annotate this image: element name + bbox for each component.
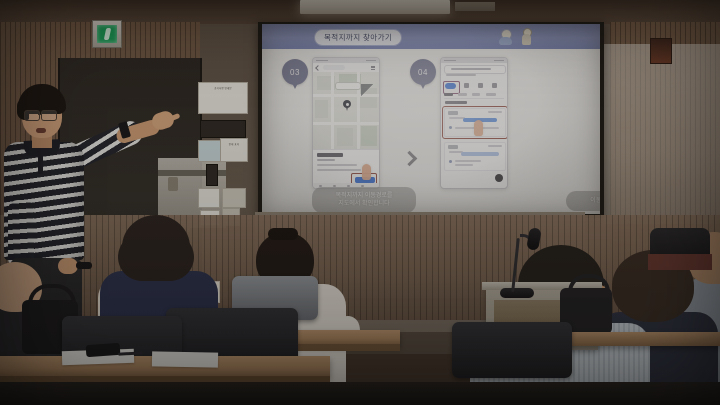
place-detail-line-1 bbox=[317, 164, 357, 166]
step-03-caption-line-1: 목적지까지 이동경로를 bbox=[336, 192, 393, 200]
slide-step-04: 04 bbox=[410, 55, 530, 213]
route-filter-tabs[interactable] bbox=[444, 92, 504, 99]
wall-notice-text: 공지사항 안내문 bbox=[199, 87, 247, 90]
tab-fastest[interactable] bbox=[458, 93, 467, 96]
place-name bbox=[317, 153, 343, 157]
presentation-clicker[interactable] bbox=[76, 262, 92, 269]
map-destination-pin-icon bbox=[343, 100, 351, 111]
search-chip[interactable] bbox=[323, 65, 345, 70]
person-mascot-icon bbox=[498, 29, 513, 45]
route-list-heading bbox=[445, 101, 467, 104]
exit-sign-icon bbox=[97, 25, 117, 43]
menu-icon[interactable] bbox=[371, 66, 375, 70]
right-wall-fixture bbox=[650, 38, 672, 64]
smartphone-on-desk[interactable] bbox=[86, 343, 121, 357]
floor bbox=[0, 382, 720, 405]
route-duration-1 bbox=[488, 111, 502, 113]
place-detail-line-2 bbox=[317, 169, 361, 171]
mode-transit-selected[interactable] bbox=[445, 83, 456, 89]
back-chevron-icon[interactable] bbox=[315, 65, 321, 71]
wall-sign-dark bbox=[200, 120, 246, 138]
ceiling-light bbox=[300, 0, 450, 14]
step-badge-04: 04 bbox=[410, 59, 436, 85]
step-04-caption-line-1: 이동할 수 있습니다. 도착을 bbox=[590, 197, 600, 205]
presentation-room-photo: 공지사항 안내문 안내 표지 목적지까지 찾아가기 bbox=[0, 0, 720, 405]
mode-walk-icon[interactable] bbox=[478, 83, 483, 88]
tab-fewest-transfers[interactable] bbox=[472, 93, 480, 96]
wall-note-white: 안내 표지 bbox=[220, 138, 248, 162]
presenter-placket bbox=[38, 148, 43, 174]
wall-notice-board: 공지사항 안내문 안내 표지 bbox=[196, 82, 256, 222]
emergency-exit-sign bbox=[92, 20, 122, 48]
wall-note-text: 안내 표지 bbox=[221, 143, 247, 146]
handout-paper-2 bbox=[152, 351, 218, 367]
tab-recommended[interactable] bbox=[444, 93, 453, 96]
microphone-base bbox=[500, 288, 534, 298]
place-category bbox=[317, 159, 335, 161]
presenter-glasses-bridge bbox=[38, 114, 42, 115]
place-info-card bbox=[313, 149, 379, 188]
step-03-caption: 목적지까지 이동경로를 지도에서 확인합니다 bbox=[312, 187, 416, 213]
chair-back-right bbox=[452, 322, 572, 378]
phone-mockup-map bbox=[312, 57, 380, 189]
phone-status-bar-2 bbox=[441, 58, 507, 63]
pointing-hand-icon bbox=[362, 164, 371, 180]
ceiling-light-secondary bbox=[455, 2, 495, 11]
phone-mockup-routes bbox=[440, 57, 508, 189]
map-view[interactable] bbox=[313, 72, 379, 150]
map-info-bubble bbox=[335, 82, 361, 90]
projection-screen: 목적지까지 찾아가기 03 bbox=[262, 24, 600, 214]
presenter-mouth bbox=[36, 128, 46, 133]
route-search-field[interactable] bbox=[444, 65, 506, 74]
step-number-04: 04 bbox=[418, 68, 428, 77]
wall-note-blue bbox=[198, 140, 222, 162]
slide-header-bar: 목적지까지 찾아가기 bbox=[262, 24, 600, 49]
presenter-glasses-left bbox=[24, 110, 40, 121]
step-number-03: 03 bbox=[290, 68, 300, 77]
whiteboard bbox=[604, 44, 720, 220]
pointing-hand-icon-2 bbox=[474, 120, 483, 136]
route-badge-1 bbox=[448, 111, 458, 115]
step-03-caption-line-2: 지도에서 확인합니다 bbox=[338, 200, 389, 208]
step-04-caption: 이동할 수 있습니다. 도착을 bbox=[566, 191, 600, 211]
wall-panel-b bbox=[222, 188, 246, 208]
mode-car-icon[interactable] bbox=[464, 83, 469, 88]
map-illustration bbox=[361, 84, 375, 100]
route-card-2[interactable] bbox=[444, 142, 506, 171]
route-badge-2 bbox=[448, 145, 458, 149]
slide-title: 목적지까지 찾아가기 bbox=[324, 32, 392, 43]
slide-title-pill: 목적지까지 찾아가기 bbox=[314, 29, 402, 46]
tab-least-walk[interactable] bbox=[486, 93, 496, 96]
wall-switch-plate[interactable] bbox=[206, 164, 218, 186]
route-duration-2 bbox=[488, 145, 502, 147]
slide-step-03: 03 bbox=[282, 55, 402, 213]
mode-bike-icon[interactable] bbox=[492, 83, 497, 88]
step-badge-03: 03 bbox=[282, 59, 308, 85]
signpost-mascot-icon bbox=[520, 28, 533, 45]
route-origin-label bbox=[446, 74, 476, 76]
wall-panel-a bbox=[198, 188, 220, 208]
slide-body: 03 bbox=[262, 49, 600, 214]
desk-right bbox=[556, 332, 720, 346]
transport-mode-row[interactable] bbox=[444, 80, 504, 91]
running-man-icon bbox=[103, 28, 111, 40]
rear-chair-seat bbox=[648, 254, 712, 270]
presenter-glasses-right bbox=[41, 110, 57, 121]
wall-notice-poster: 공지사항 안내문 bbox=[198, 82, 248, 114]
floating-action-button[interactable] bbox=[495, 174, 503, 182]
